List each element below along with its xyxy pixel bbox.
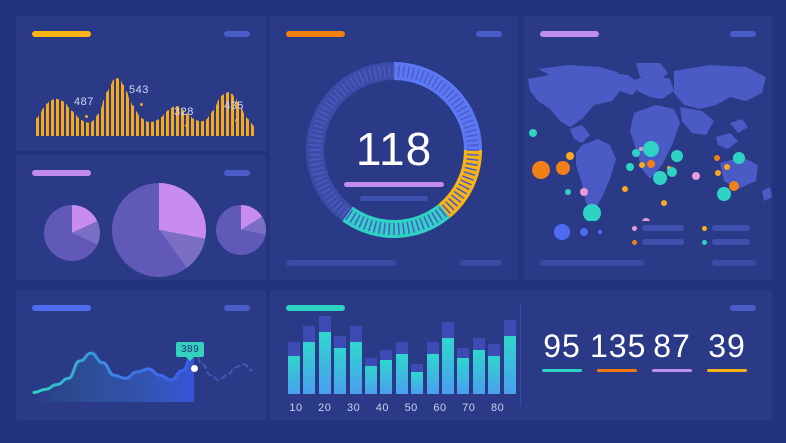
pie-small-left[interactable] <box>44 205 100 261</box>
panel-header-action[interactable] <box>730 31 756 37</box>
panel-area-chart: 487 543 328 435 <box>16 16 266 151</box>
panel-footer-bar-left <box>286 260 396 266</box>
kpi-divider <box>520 304 521 406</box>
legend-size-dot <box>580 228 588 236</box>
line-chart-svg[interactable] <box>16 290 266 420</box>
kpi-value: 39 <box>700 328 754 365</box>
area-marker-0 <box>85 115 88 118</box>
kpi-underline <box>652 369 692 372</box>
gauge-underline-primary <box>344 182 444 187</box>
line-tooltip: 389 <box>176 342 204 357</box>
map-legend <box>554 222 754 256</box>
area-label-1: 543 <box>129 84 149 96</box>
bar-axis-label: 50 <box>400 402 422 414</box>
panel-footer-bar-right <box>460 260 502 266</box>
area-marker-1 <box>140 103 143 106</box>
bar-axis-label: 70 <box>458 402 480 414</box>
panel-radial-gauge: 118 <box>270 16 518 280</box>
kpi-value: 135 <box>590 328 644 365</box>
panel-header-action[interactable] <box>224 170 250 176</box>
bar-axis-label: 40 <box>371 402 393 414</box>
pie-small-right[interactable] <box>216 205 266 255</box>
panel-header-bar <box>32 170 91 176</box>
panel-footer-bar-right <box>712 260 756 266</box>
panel-header-bar <box>540 31 599 37</box>
bar-axis-label: 30 <box>343 402 365 414</box>
panel-header-bar <box>286 31 345 37</box>
legend-dot <box>702 240 707 245</box>
panel-header-action[interactable] <box>476 31 502 37</box>
panel-footer-bar-left <box>540 260 644 266</box>
area-marker-3 <box>235 119 238 122</box>
legend-label-bar <box>642 239 684 245</box>
world-map-svg[interactable] <box>524 61 772 221</box>
legend-label-bar <box>712 239 750 245</box>
legend-size-dot <box>554 224 570 240</box>
panel-bar-kpi: 1020304050607080 95 135 87 39 <box>270 290 772 420</box>
bar-axis-label: 10 <box>285 402 307 414</box>
kpi-3[interactable]: 39 <box>700 328 754 372</box>
kpi-value: 95 <box>535 328 589 365</box>
line-tooltip-marker <box>191 365 198 372</box>
legend-dot <box>632 240 637 245</box>
legend-dot <box>702 226 707 231</box>
panel-world-map <box>524 16 772 280</box>
area-label-3: 435 <box>224 100 244 112</box>
panel-line-chart: 389 <box>16 290 266 420</box>
bar-axis-label: 20 <box>314 402 336 414</box>
legend-label-bar <box>712 225 750 231</box>
kpi-2[interactable]: 87 <box>645 328 699 372</box>
bar-axis-label: 60 <box>429 402 451 414</box>
area-label-2: 328 <box>174 106 194 118</box>
pie-large-center[interactable] <box>112 183 206 277</box>
kpi-underline <box>597 369 637 372</box>
area-label-0: 487 <box>74 96 94 108</box>
kpi-value: 87 <box>645 328 699 365</box>
dashboard-root: 487 543 328 435 118 <box>0 0 786 443</box>
panel-header-action[interactable] <box>730 305 756 311</box>
gauge-value: 118 <box>270 122 518 176</box>
bar-chart-axis: 1020304050607080 <box>270 290 520 420</box>
kpi-0[interactable]: 95 <box>535 328 589 372</box>
kpi-underline <box>542 369 582 372</box>
legend-dot <box>632 226 637 231</box>
legend-label-bar <box>642 225 684 231</box>
legend-size-dot <box>598 230 602 234</box>
gauge-underline-secondary <box>360 196 428 201</box>
area-marker-2 <box>185 124 188 127</box>
bar-axis-label: 80 <box>487 402 509 414</box>
panel-pie-charts <box>16 155 266 280</box>
kpi-1[interactable]: 135 <box>590 328 644 372</box>
kpi-underline <box>707 369 747 372</box>
